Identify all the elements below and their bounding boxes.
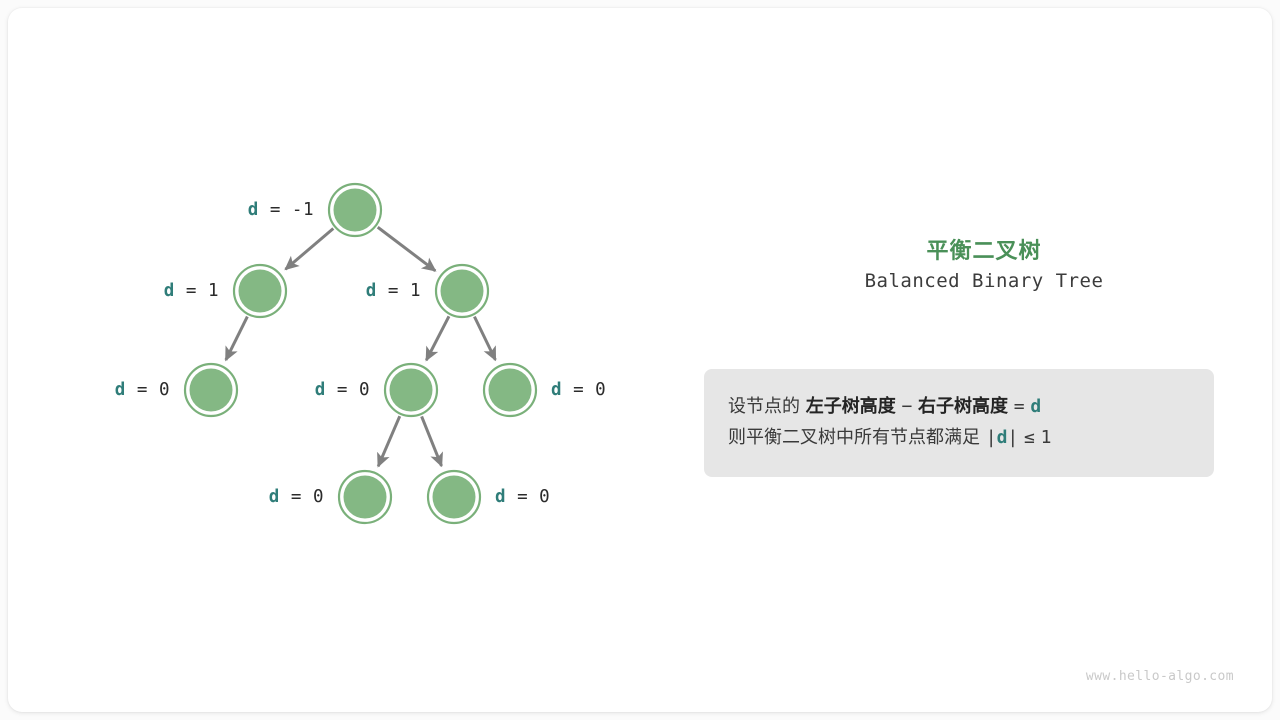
tree-edge — [285, 228, 333, 269]
node-balance-variable: d — [366, 281, 377, 301]
tree-node-fill — [334, 189, 377, 232]
page-title-en: Balanced Binary Tree — [696, 270, 1272, 292]
tree-node-fill — [441, 270, 484, 313]
node-balance-label: d = -1 — [248, 200, 314, 220]
node-balance-label: d = 0 — [269, 487, 324, 507]
tree-edge — [422, 416, 442, 465]
node-balance-label: d = 0 — [495, 487, 550, 507]
binary-tree-figure: d = -1d = 1d = 1d = 0d = 0d = 0d = 0d = … — [8, 8, 668, 712]
node-balance-variable: d — [269, 487, 280, 507]
node-balance-variable: d — [495, 487, 506, 507]
tree-node-fill — [344, 476, 387, 519]
definition-prefix: 设节点的 — [728, 396, 800, 417]
minus-operator: − — [901, 396, 912, 417]
node-balance-value: = 0 — [126, 380, 170, 400]
node-balance-label: d = 1 — [164, 281, 219, 301]
abs-bar-close: | — [1007, 427, 1018, 448]
tree-node — [385, 364, 437, 416]
tree-node — [234, 265, 286, 317]
info-panel: 平衡二叉树 Balanced Binary Tree 设节点的 左子树高度 − … — [696, 8, 1272, 712]
node-balance-value: = 0 — [326, 380, 370, 400]
node-balance-value: = 1 — [377, 281, 421, 301]
node-balance-value: = 0 — [280, 487, 324, 507]
tree-edge — [226, 317, 247, 360]
definition-bound-value: 1 — [1041, 427, 1052, 448]
definition-box: 设节点的 左子树高度 − 右子树高度 = d 则平衡二叉树中所有节点都满足 |d… — [704, 369, 1214, 477]
definition-line-1: 设节点的 左子树高度 − 右子树高度 = d — [728, 391, 1190, 422]
definition-variable-d-abs: d — [997, 427, 1008, 448]
node-balance-variable: d — [164, 281, 175, 301]
node-balance-value: = 0 — [562, 380, 606, 400]
node-balance-value: = -1 — [259, 200, 314, 220]
tree-node-fill — [390, 369, 433, 412]
tree-edge — [474, 317, 495, 360]
abs-bar-open: | — [986, 427, 997, 448]
page-title-zh: 平衡二叉树 — [696, 233, 1272, 265]
tree-node-fill — [239, 270, 282, 313]
tree-svg — [8, 8, 668, 712]
tree-node-fill — [190, 369, 233, 412]
tree-node — [484, 364, 536, 416]
tree-node — [185, 364, 237, 416]
tree-edge-layer — [226, 227, 496, 466]
tree-node-layer — [185, 184, 536, 523]
node-balance-variable: d — [315, 380, 326, 400]
definition-term-right-subtree-height: 右子树高度 — [918, 396, 1008, 417]
node-balance-label: d = 1 — [366, 281, 421, 301]
tree-node — [339, 471, 391, 523]
node-balance-label: d = 0 — [551, 380, 606, 400]
node-balance-label: d = 0 — [315, 380, 370, 400]
node-balance-label: d = 0 — [115, 380, 170, 400]
tree-node-fill — [489, 369, 532, 412]
equals-operator: = — [1014, 396, 1025, 417]
tree-edge — [378, 416, 400, 466]
tree-edge — [378, 227, 436, 271]
node-balance-value: = 1 — [175, 281, 219, 301]
diagram-canvas: d = -1d = 1d = 1d = 0d = 0d = 0d = 0d = … — [8, 8, 1272, 712]
tree-node — [329, 184, 381, 236]
tree-node-fill — [433, 476, 476, 519]
less-equal-operator: ≤ — [1024, 427, 1035, 448]
definition-variable-d: d — [1030, 396, 1041, 417]
tree-node — [428, 471, 480, 523]
node-balance-variable: d — [248, 200, 259, 220]
tree-node — [436, 265, 488, 317]
definition-term-left-subtree-height: 左子树高度 — [806, 396, 896, 417]
tree-edge — [426, 316, 449, 360]
watermark: www.hello-algo.com — [1086, 669, 1234, 684]
node-balance-value: = 0 — [506, 487, 550, 507]
definition-line-2: 则平衡二叉树中所有节点都满足 |d| ≤ 1 — [728, 422, 1190, 453]
node-balance-variable: d — [551, 380, 562, 400]
node-balance-variable: d — [115, 380, 126, 400]
definition-condition-prefix: 则平衡二叉树中所有节点都满足 — [728, 427, 980, 448]
